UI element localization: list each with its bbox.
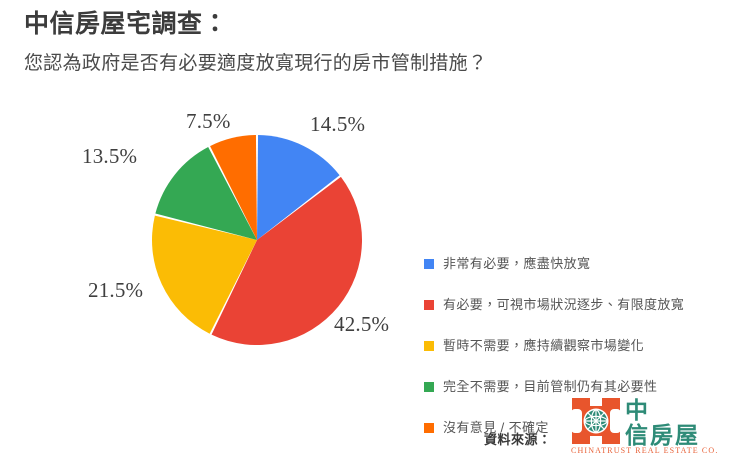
chinatrust-logo-mark-icon	[572, 398, 620, 444]
brand-logo: 中 信 房 屋 CHINATRUST REAL ESTATE CO.	[572, 398, 724, 468]
brand-tagline: CHINATRUST REAL ESTATE CO.	[571, 446, 719, 455]
pie-slice-value-5: 7.5%	[186, 109, 231, 134]
wordmark-char-2: 信	[625, 422, 648, 446]
legend-label-3: 暫時不需要，應持續觀察市場變化	[443, 339, 644, 352]
legend-item-1[interactable]: 非常有必要，應盡快放寬	[424, 243, 724, 284]
pie-chart-plot: 14.5% 42.5% 21.5% 13.5% 7.5%	[96, 105, 426, 370]
legend-item-2[interactable]: 有必要，可視市場狀況逐步、有限度放寬	[424, 284, 724, 325]
pie-slice-value-2: 42.5%	[334, 312, 389, 337]
wordmark-char-3: 房	[650, 422, 673, 446]
legend-swatch-icon-2	[424, 300, 434, 310]
legend-label-4: 完全不需要，目前管制仍有其必要性	[443, 380, 657, 393]
pie-chart: 14.5% 42.5% 21.5% 13.5% 7.5% 非常有必要，應盡快放寬…	[0, 105, 731, 370]
wordmark-char-1: 中	[625, 398, 648, 423]
page-title: 中信房屋宅調查：	[24, 8, 714, 42]
legend-swatch-icon-3	[424, 341, 434, 351]
pie-slice-value-4: 13.5%	[82, 144, 137, 169]
source-label: 資料來源：	[484, 429, 552, 448]
legend-swatch-icon-4	[424, 382, 434, 392]
legend-item-3[interactable]: 暫時不需要，應持續觀察市場變化	[424, 325, 724, 366]
legend-swatch-icon-1	[424, 259, 434, 269]
footer: 資料來源： 中 信 房 屋 CHINATRUST REA	[0, 400, 731, 473]
chinatrust-wordmark: 中 信 房 屋	[623, 398, 723, 446]
pie-slice-value-1: 14.5%	[310, 112, 365, 137]
legend-label-2: 有必要，可視市場狀況逐步、有限度放寬	[443, 298, 684, 311]
pie-slices	[152, 135, 362, 345]
header: 中信房屋宅調查： 您認為政府是否有必要適度放寬現行的房市管制措施？	[24, 8, 714, 76]
pie-slice-value-3: 21.5%	[88, 278, 143, 303]
legend-label-1: 非常有必要，應盡快放寬	[443, 257, 590, 270]
survey-question: 您認為政府是否有必要適度放寬現行的房市管制措施？	[24, 51, 714, 77]
wordmark-char-4: 屋	[675, 422, 698, 446]
